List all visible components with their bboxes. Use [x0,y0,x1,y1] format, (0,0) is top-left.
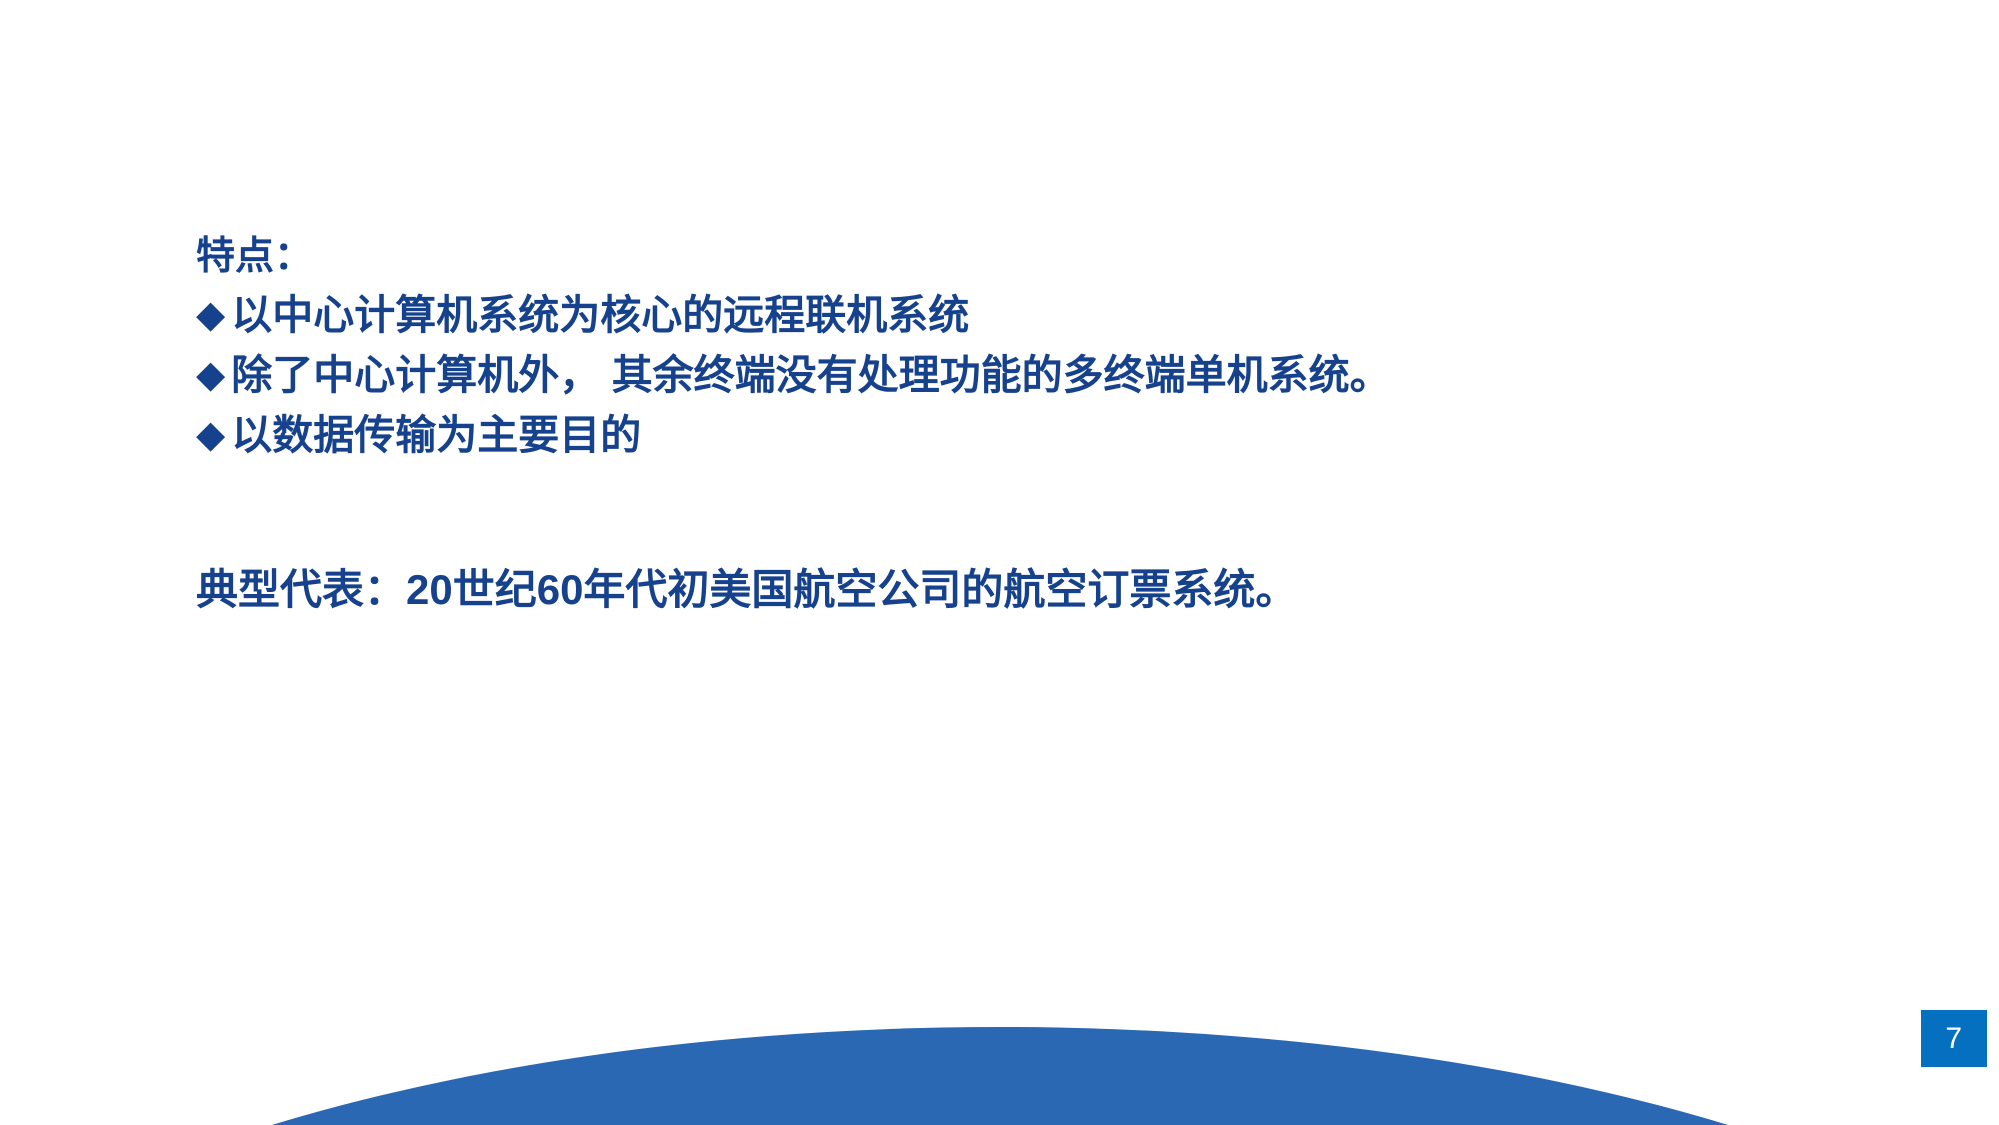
bottom-decorative-arc [0,1005,1999,1125]
bullet-item-2-label: 除了中心计算机外， 其余终端没有处理功能的多终端单机系统。 [231,345,1390,405]
bullet-item-2: ◆ 除了中心计算机外， 其余终端没有处理功能的多终端单机系统。 [196,345,1936,405]
diamond-bullet-icon: ◆ [196,296,225,334]
features-heading: 特点： [196,228,1936,285]
diamond-bullet-icon: ◆ [196,356,225,394]
bullet-item-1: ◆ 以中心计算机系统为核心的远程联机系统 [196,285,1936,345]
diamond-bullet-icon: ◆ [196,416,225,454]
content-spacer [196,465,1936,561]
bullet-item-1-label: 以中心计算机系统为核心的远程联机系统 [231,285,969,345]
typical-example-line: 典型代表：20世纪60年代初美国航空公司的航空订票系统。 [196,561,1936,619]
bullet-item-3-label: 以数据传输为主要目的 [231,405,641,465]
bottom-arc-shape [0,1027,1999,1125]
page-number-badge: 7 [1921,1010,1987,1067]
bullet-item-3: ◆ 以数据传输为主要目的 [196,405,1936,465]
slide-canvas: 特点： ◆ 以中心计算机系统为核心的远程联机系统 ◆ 除了中心计算机外， 其余终… [0,0,1999,1125]
page-number-label: 7 [1945,1024,1962,1054]
slide-content-block: 特点： ◆ 以中心计算机系统为核心的远程联机系统 ◆ 除了中心计算机外， 其余终… [196,228,1936,619]
